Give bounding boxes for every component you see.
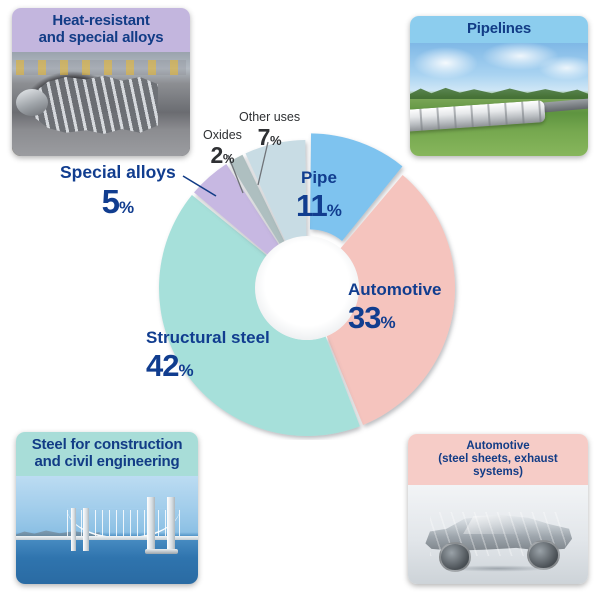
- slice-label-special-alloys-value: 5%: [60, 183, 176, 221]
- slice-label-pipe-name: Pipe: [296, 168, 342, 188]
- slice-label-structural-steel-value: 42%: [146, 348, 270, 384]
- leader-lines: [0, 0, 600, 600]
- slice-label-oxides-name: Oxides: [203, 128, 242, 142]
- leader-line-special-alloys: [183, 176, 216, 196]
- slice-label-oxides: Oxides 2%: [203, 128, 242, 169]
- slice-label-pipe: Pipe 11%: [296, 168, 342, 224]
- infographic-canvas: Heat-resistant and special alloys Pipeli…: [0, 0, 600, 600]
- slice-label-other-uses-name: Other uses: [239, 110, 300, 124]
- slice-label-other-uses: Other uses 7%: [239, 110, 300, 151]
- slice-label-structural-steel: Structural steel 42%: [146, 328, 270, 384]
- slice-label-pipe-value: 11%: [296, 188, 342, 224]
- slice-label-structural-steel-name: Structural steel: [146, 328, 270, 348]
- slice-label-automotive-value: 33%: [348, 300, 442, 336]
- slice-label-other-uses-value: 7%: [239, 124, 300, 151]
- slice-label-special-alloys: Special alloys 5%: [60, 162, 176, 221]
- slice-label-automotive-name: Automotive: [348, 280, 442, 300]
- slice-label-oxides-value: 2%: [203, 142, 242, 169]
- slice-label-automotive: Automotive 33%: [348, 280, 442, 336]
- slice-label-special-alloys-name: Special alloys: [60, 162, 176, 183]
